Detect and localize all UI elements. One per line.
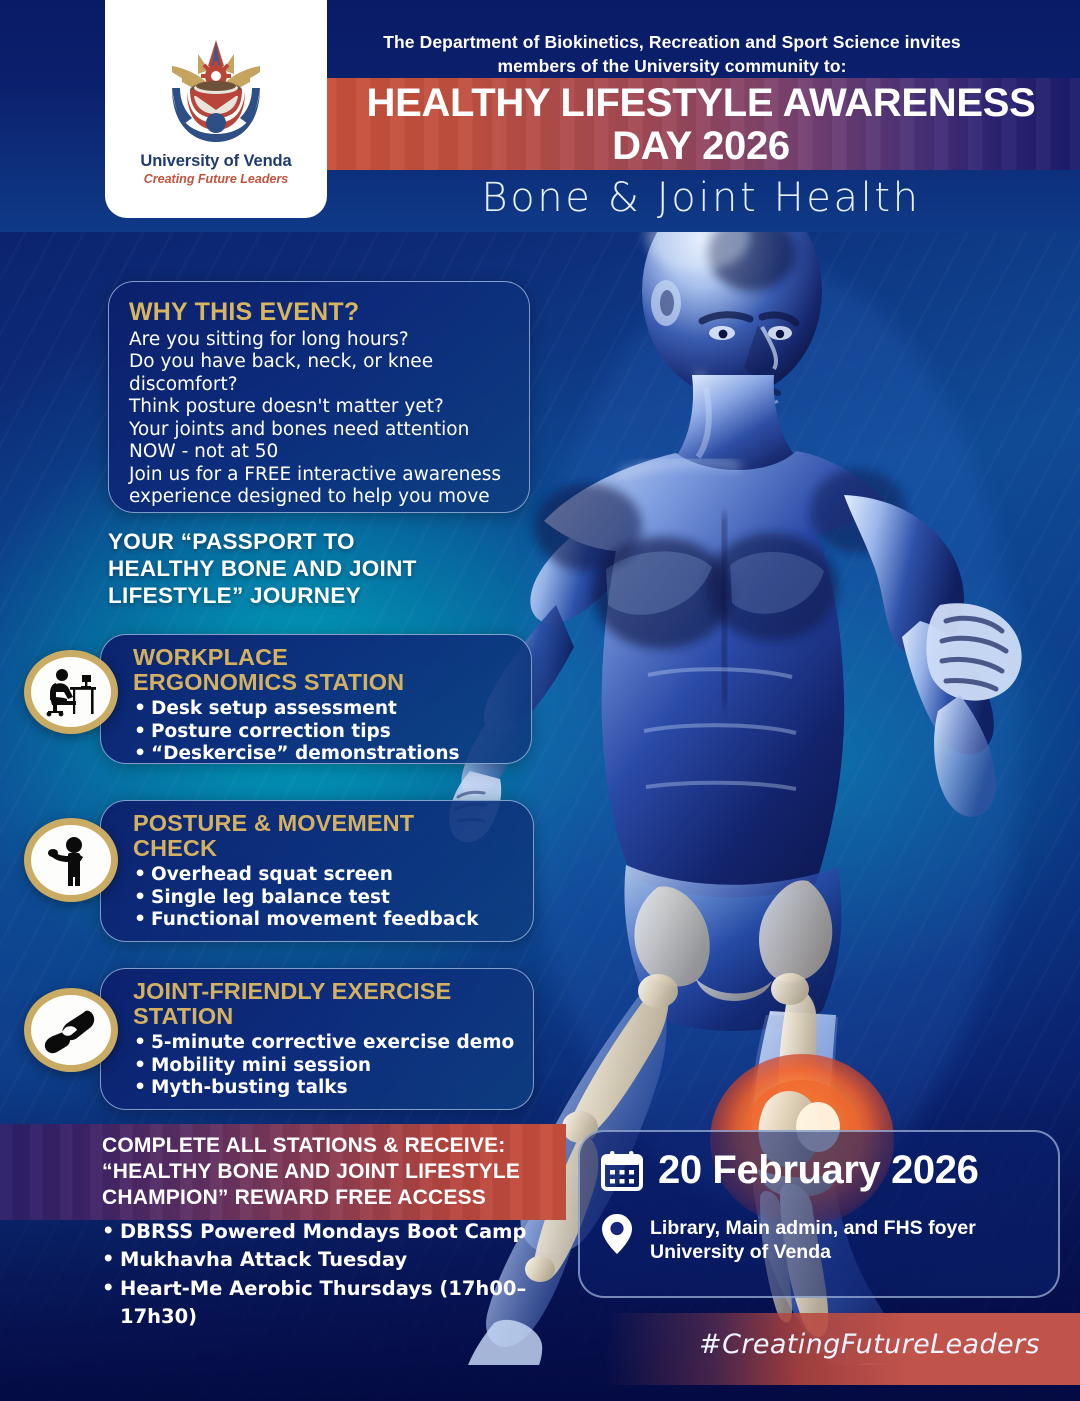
station-list-item: Desk setup assessment (133, 698, 513, 720)
station-3-icon-badge (24, 988, 118, 1072)
page-title: HEALTHY LIFESTYLE AWARENESS DAY 2026 (322, 82, 1080, 168)
title-line-2: DAY 2026 (322, 125, 1080, 168)
perks-list-item: Heart-Me Aerobic Thursdays (17h00–17h30) (100, 1275, 580, 1332)
station-list-item: “Deskercise” demonstrations (133, 743, 513, 765)
station-card-posture-movement: POSTURE & MOVEMENT CHECK Overhead squat … (100, 800, 534, 942)
perks-list-item: DBRSS Powered Mondays Boot Camp (100, 1218, 580, 1246)
station-title: WORKPLACE ERGONOMICS STATION (133, 645, 513, 694)
station-list-item: Functional movement feedback (133, 909, 515, 931)
why-line: Join us for a FREE interactive awareness (129, 464, 509, 486)
title-line-1: HEALTHY LIFESTYLE AWARENESS (322, 82, 1080, 125)
desk-worker-icon (43, 667, 99, 717)
invite-text: The Department of Biokinetics, Recreatio… (322, 30, 1022, 78)
why-line: discomfort? (129, 374, 509, 396)
university-logo-card: University of Venda Creating Future Lead… (105, 0, 327, 218)
station-title: JOINT-FRIENDLY EXERCISE STATION (133, 979, 515, 1028)
why-this-event-card: WHY THIS EVENT? Are you sitting for long… (108, 281, 530, 513)
why-card-title: WHY THIS EVENT? (129, 298, 509, 327)
page-subtitle: Bone & Joint Health (322, 175, 1080, 221)
station-list-item: Myth-busting talks (133, 1077, 515, 1099)
station-list-item: Single leg balance test (133, 887, 515, 909)
station-title-line-1: JOINT-FRIENDLY EXERCISE (133, 979, 515, 1004)
reward-banner-text: COMPLETE ALL STATIONS & RECEIVE: “HEALTH… (102, 1133, 572, 1211)
station-title-line-1: POSTURE & MOVEMENT (133, 811, 515, 836)
logo-university-name: University of Venda (140, 152, 291, 171)
location-row: Library, Main admin, and FHS foyer Unive… (600, 1212, 976, 1264)
station-title-line-2: ERGONOMICS STATION (133, 670, 513, 695)
station-list-item: Mobility mini session (133, 1055, 515, 1077)
university-of-venda-crest-icon (154, 26, 278, 144)
location-line-2: University of Venda (650, 1240, 976, 1264)
event-date: 20 February 2026 (658, 1148, 978, 1193)
passport-journey-heading: YOUR “PASSPORT TO HEALTHY BONE AND JOINT… (108, 528, 548, 610)
event-location: Library, Main admin, and FHS foyer Unive… (650, 1212, 976, 1264)
invite-line-2: members of the University community to: (322, 54, 1022, 78)
station-item-list: 5-minute corrective exercise demo Mobili… (133, 1032, 515, 1099)
station-list-item: 5-minute corrective exercise demo (133, 1032, 515, 1054)
station-2-icon-badge (24, 818, 118, 902)
knee-joint-bone-icon (43, 1005, 99, 1055)
why-line: experience designed to help you move (129, 486, 509, 508)
why-line: NOW - not at 50 (129, 441, 509, 463)
reward-line-3: CHAMPION” REWARD FREE ACCESS (102, 1185, 572, 1211)
footer-hashtag: #CreatingFutureLeaders (699, 1329, 1040, 1360)
why-line: Are you sitting for long hours? (129, 329, 509, 351)
location-line-1: Library, Main admin, and FHS foyer (650, 1216, 976, 1240)
station-item-list: Overhead squat screen Single leg balance… (133, 864, 515, 931)
perks-list-item: Mukhavha Attack Tuesday (100, 1246, 580, 1274)
station-title-line-2: STATION (133, 1004, 515, 1029)
station-item-list: Desk setup assessment Posture correction… (133, 698, 513, 765)
stretching-person-icon (46, 834, 96, 886)
date-row: 20 February 2026 (600, 1148, 978, 1193)
station-list-item: Posture correction tips (133, 721, 513, 743)
station-title-line-1: WORKPLACE (133, 645, 513, 670)
station-card-joint-friendly-exercise: JOINT-FRIENDLY EXERCISE STATION 5-minute… (100, 968, 534, 1110)
perks-list: DBRSS Powered Mondays Boot Camp Mukhavha… (100, 1218, 580, 1331)
passport-line-3: LIFESTYLE” JOURNEY (108, 582, 548, 609)
station-list-item: Overhead squat screen (133, 864, 515, 886)
map-pin-icon (600, 1212, 634, 1256)
station-title-line-2: CHECK (133, 836, 515, 861)
why-line: Think posture doesn't matter yet? (129, 396, 509, 418)
poster-root: The Department of Biokinetics, Recreatio… (0, 0, 1080, 1401)
why-line: Do you have back, neck, or knee (129, 351, 509, 373)
station-card-workplace-ergonomics: WORKPLACE ERGONOMICS STATION Desk setup … (100, 634, 532, 764)
reward-line-1: COMPLETE ALL STATIONS & RECEIVE: (102, 1133, 572, 1159)
logo-tagline: Creating Future Leaders (144, 172, 288, 186)
passport-line-1: YOUR “PASSPORT TO (108, 528, 548, 555)
reward-line-2: “HEALTHY BONE AND JOINT LIFESTYLE (102, 1159, 572, 1185)
passport-line-2: HEALTHY BONE AND JOINT (108, 555, 548, 582)
calendar-icon (600, 1150, 644, 1192)
station-title: POSTURE & MOVEMENT CHECK (133, 811, 515, 860)
station-1-icon-badge (24, 650, 118, 734)
why-line: Your joints and bones need attention (129, 419, 509, 441)
invite-line-1: The Department of Biokinetics, Recreatio… (322, 30, 1022, 54)
